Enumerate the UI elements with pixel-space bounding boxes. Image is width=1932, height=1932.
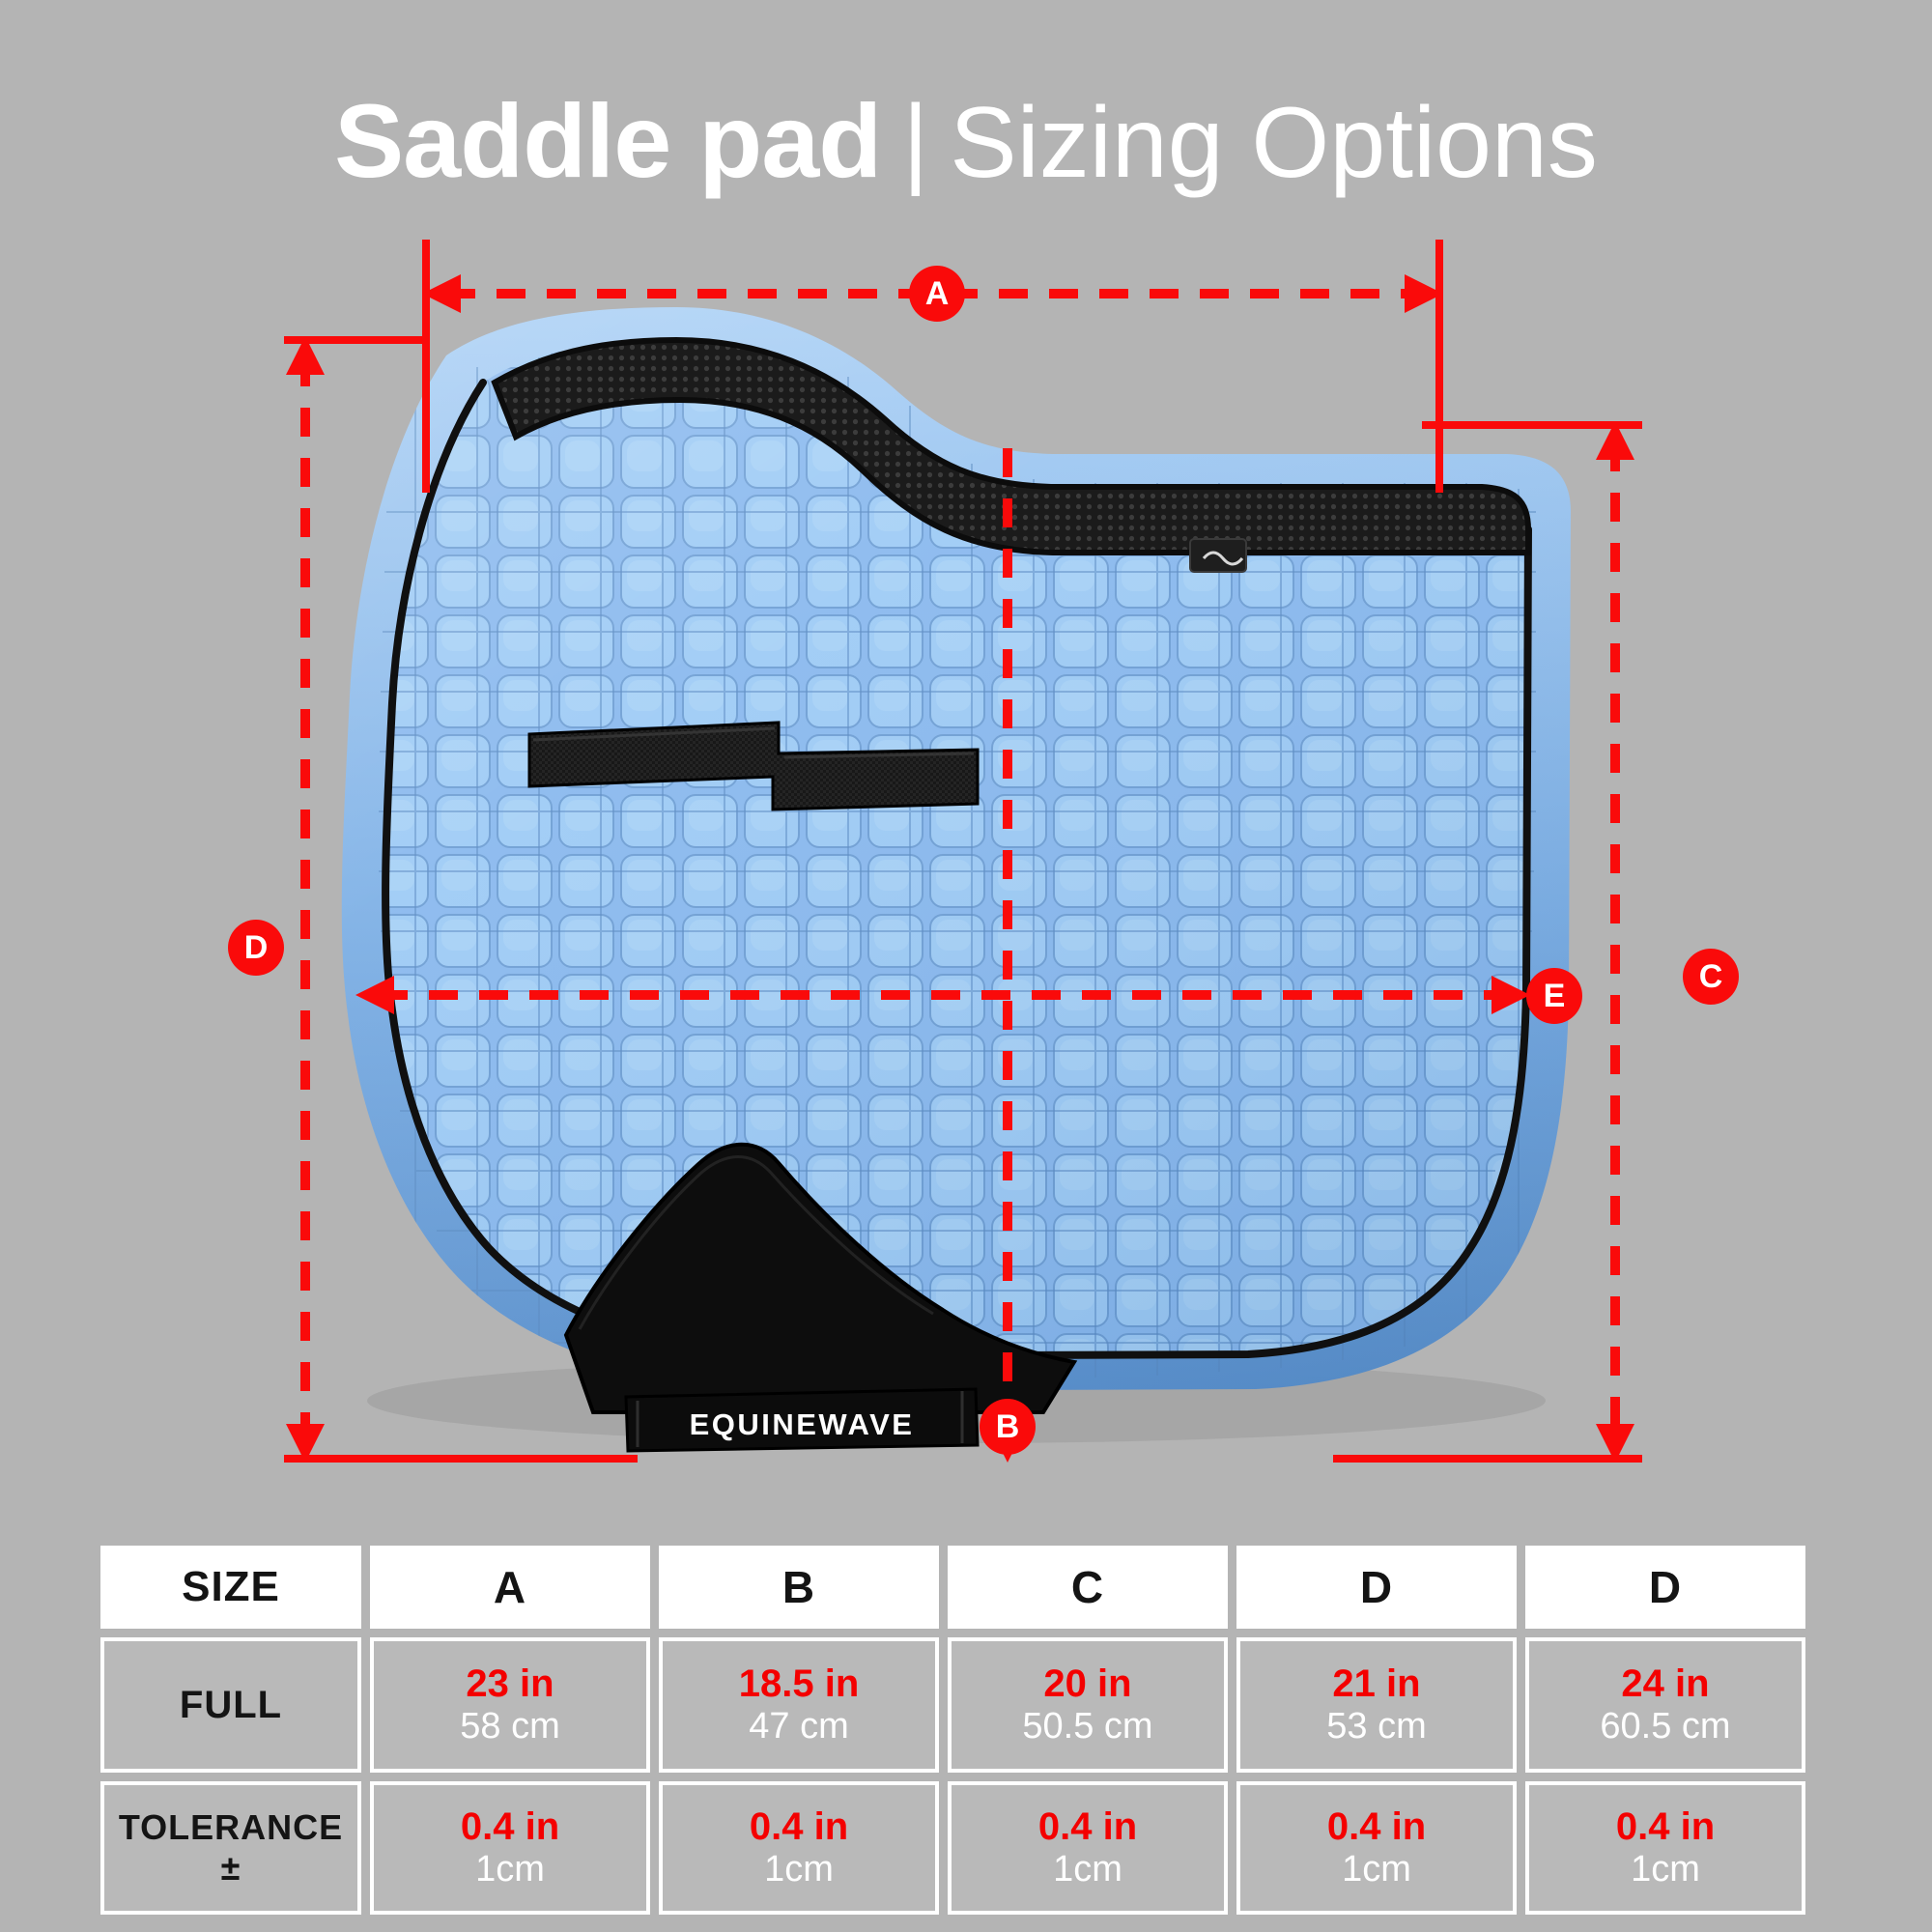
page-title-separator: | bbox=[881, 85, 950, 197]
size-table: SIZE A B C D D FULL 23 in 58 cm 18.5 in … bbox=[100, 1546, 1834, 1915]
table-row: FULL 23 in 58 cm 18.5 in 47 cm 20 in 50.… bbox=[100, 1637, 1834, 1773]
cell-full-b: 18.5 in 47 cm bbox=[659, 1637, 939, 1773]
row-label-tolerance: TOLERANCE ± bbox=[100, 1781, 361, 1915]
product-diagram: EQUINEWAVE bbox=[0, 193, 1932, 1497]
brand-tab-icon bbox=[1190, 539, 1246, 572]
page-title-secondary: Sizing Options bbox=[950, 87, 1598, 199]
value-inches: 20 in bbox=[1043, 1662, 1131, 1706]
value-inches: 23 in bbox=[466, 1662, 554, 1706]
value-cm: 1cm bbox=[764, 1849, 834, 1891]
value-cm: 58 cm bbox=[460, 1706, 559, 1748]
cell-full-a: 23 in 58 cm bbox=[370, 1637, 650, 1773]
dimension-badge-e: E bbox=[1526, 968, 1582, 1024]
page-title: Saddle pad|Sizing Options bbox=[0, 89, 1932, 193]
value-inches: 21 in bbox=[1332, 1662, 1420, 1706]
size-table-header-row: SIZE A B C D D bbox=[100, 1546, 1834, 1629]
value-cm: 50.5 cm bbox=[1022, 1706, 1152, 1748]
cell-tol-d2: 0.4 in 1cm bbox=[1525, 1781, 1805, 1915]
girth-strap: EQUINEWAVE bbox=[626, 1389, 978, 1451]
cell-tol-b: 0.4 in 1cm bbox=[659, 1781, 939, 1915]
page-title-primary: Saddle pad bbox=[334, 82, 881, 199]
value-cm: 53 cm bbox=[1326, 1706, 1426, 1748]
value-cm: 1cm bbox=[475, 1849, 545, 1891]
pad-quilted-body bbox=[0, 193, 1932, 1497]
cell-full-d1: 21 in 53 cm bbox=[1236, 1637, 1517, 1773]
dimension-badge-b: B bbox=[980, 1399, 1036, 1455]
value-inches: 18.5 in bbox=[739, 1662, 860, 1706]
value-cm: 60.5 cm bbox=[1600, 1706, 1730, 1748]
table-header-size: SIZE bbox=[100, 1546, 361, 1629]
table-header-d2: D bbox=[1525, 1546, 1805, 1629]
sizing-chart-page: Saddle pad|Sizing Options bbox=[0, 0, 1932, 1932]
value-inches: 24 in bbox=[1621, 1662, 1709, 1706]
cell-tol-c: 0.4 in 1cm bbox=[948, 1781, 1228, 1915]
value-inches: 0.4 in bbox=[1327, 1805, 1426, 1849]
value-cm: 1cm bbox=[1342, 1849, 1411, 1891]
table-header-d1: D bbox=[1236, 1546, 1517, 1629]
value-inches: 0.4 in bbox=[1616, 1805, 1715, 1849]
table-header-c: C bbox=[948, 1546, 1228, 1629]
cell-tol-a: 0.4 in 1cm bbox=[370, 1781, 650, 1915]
cell-tol-d1: 0.4 in 1cm bbox=[1236, 1781, 1517, 1915]
cell-full-d2: 24 in 60.5 cm bbox=[1525, 1637, 1805, 1773]
dimension-badge-d: D bbox=[228, 920, 284, 976]
value-cm: 1cm bbox=[1631, 1849, 1700, 1891]
value-inches: 0.4 in bbox=[461, 1805, 559, 1849]
saddle-pad-illustration: EQUINEWAVE bbox=[0, 193, 1932, 1497]
cell-full-c: 20 in 50.5 cm bbox=[948, 1637, 1228, 1773]
table-header-a: A bbox=[370, 1546, 650, 1629]
value-cm: 1cm bbox=[1053, 1849, 1122, 1891]
value-cm: 47 cm bbox=[749, 1706, 848, 1748]
brand-name-label: EQUINEWAVE bbox=[690, 1407, 915, 1441]
table-row: TOLERANCE ± 0.4 in 1cm 0.4 in 1cm 0.4 in… bbox=[100, 1781, 1834, 1915]
dimension-badge-c: C bbox=[1683, 949, 1739, 1005]
value-inches: 0.4 in bbox=[750, 1805, 848, 1849]
dimension-badge-a: A bbox=[909, 266, 965, 322]
table-header-b: B bbox=[659, 1546, 939, 1629]
value-inches: 0.4 in bbox=[1038, 1805, 1137, 1849]
row-label-full: FULL bbox=[100, 1637, 361, 1773]
